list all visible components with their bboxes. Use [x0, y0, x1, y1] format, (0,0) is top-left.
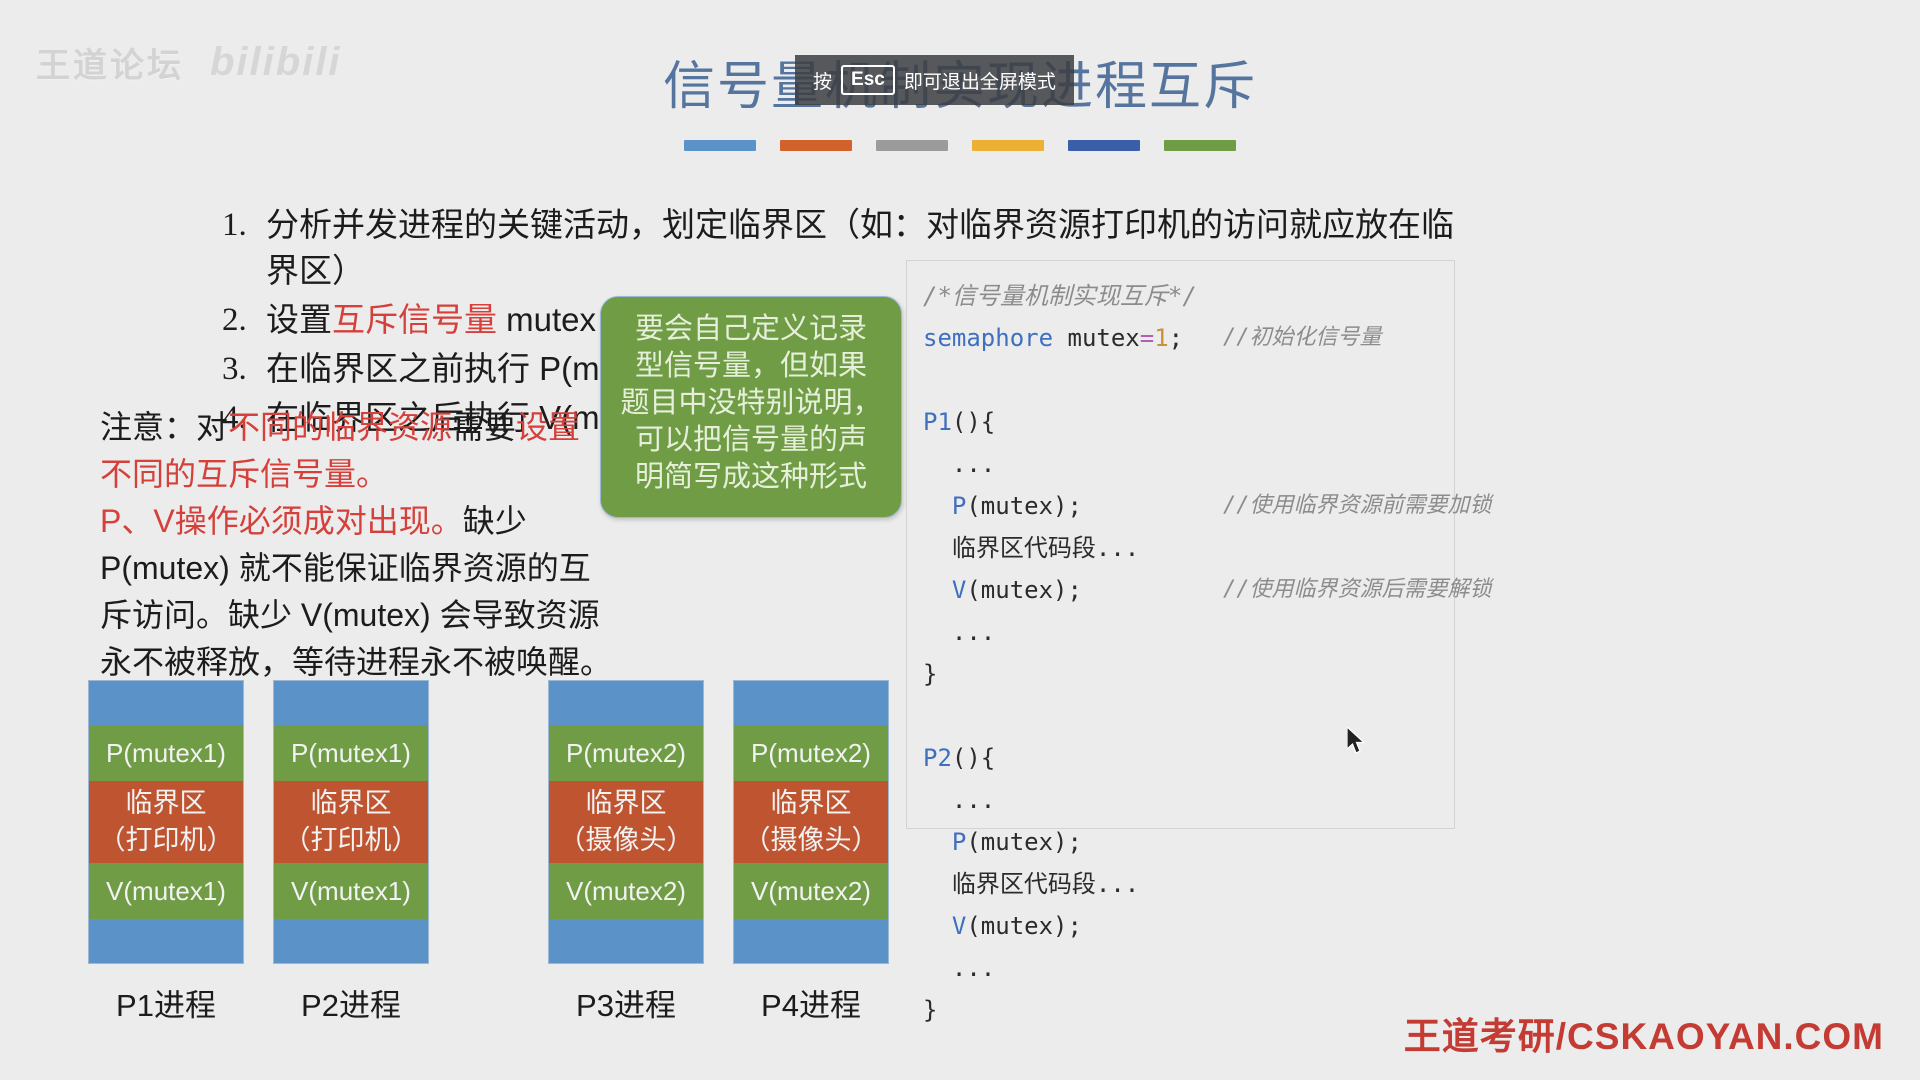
- code-plain: ...: [923, 786, 995, 814]
- segment-exit: [274, 919, 428, 963]
- note-paragraph: 注意：对不同的临界资源需要设置 不同的互斥信号量。 P、V操作必须成对出现。缺少…: [100, 404, 670, 686]
- code-comment: //使用临界资源前需要加锁: [1223, 485, 1492, 527]
- segment-p: P(mutex1): [89, 725, 243, 781]
- process-stack: P(mutex2) 临界区 （摄像头） V(mutex2): [548, 680, 704, 964]
- toast-suffix: 即可退出全屏模式: [904, 67, 1056, 94]
- code-line: ...: [923, 611, 1454, 653]
- segment-exit: [549, 919, 703, 963]
- accent-bars: [684, 140, 1236, 151]
- accent-bar-2: [780, 140, 852, 151]
- segment-critical: 临界区 （打印机）: [89, 781, 243, 863]
- exit-fullscreen-toast: 按 Esc 即可退出全屏模式: [795, 55, 1074, 105]
- segment-critical: 临界区 （打印机）: [274, 781, 428, 863]
- code-plain: 临界区代码段...: [923, 534, 1139, 562]
- esc-key-badge: Esc: [841, 65, 895, 95]
- segment-entry: [89, 681, 243, 725]
- note-line1-red2: 设置: [516, 409, 580, 445]
- segment-p: P(mutex2): [734, 725, 888, 781]
- critical-label: 临界区: [771, 785, 852, 822]
- code-line: semaphore mutex=1;//初始化信号量: [923, 317, 1454, 359]
- code-number: 1: [1154, 324, 1168, 352]
- segment-entry: [734, 681, 888, 725]
- process-label: P3进程: [548, 980, 704, 1025]
- code-plain: (mutex);: [966, 912, 1082, 940]
- critical-resource: （打印机）: [99, 822, 234, 859]
- code-operator: =: [1140, 324, 1154, 352]
- code-line: 临界区代码段...: [923, 527, 1454, 569]
- critical-resource: （摄像头）: [744, 822, 879, 859]
- code-line: V(mutex);: [923, 905, 1454, 947]
- segment-entry: [549, 681, 703, 725]
- code-blank: [923, 359, 1454, 401]
- code-punct: (){: [952, 744, 995, 772]
- segment-critical: 临界区 （摄像头）: [734, 781, 888, 863]
- code-line: ...: [923, 443, 1454, 485]
- code-fn: P: [952, 492, 966, 520]
- segment-exit: [734, 919, 888, 963]
- step-number: 1.: [222, 202, 266, 294]
- process-stack: P(mutex2) 临界区 （摄像头） V(mutex2): [733, 680, 889, 964]
- segment-exit: [89, 919, 243, 963]
- callout-line: 可以把信号量的声: [601, 422, 901, 459]
- segment-v: V(mutex1): [89, 863, 243, 919]
- code-comment: //使用临界资源后需要解锁: [1223, 569, 1492, 611]
- process-block: P(mutex1) 临界区 （打印机） V(mutex1) P1进程: [88, 680, 244, 1025]
- code-line: P2(){: [923, 737, 1454, 779]
- note-line2: 不同的互斥信号量。: [100, 456, 388, 492]
- process-stack: P(mutex1) 临界区 （打印机） V(mutex1): [88, 680, 244, 964]
- callout-line: 要会自己定义记录: [601, 311, 901, 348]
- step-number: 3.: [222, 346, 266, 392]
- code-plain: ...: [923, 954, 995, 982]
- code-line: 临界区代码段...: [923, 863, 1454, 905]
- code-plain: (mutex);: [966, 576, 1082, 604]
- code-fn: P: [952, 828, 966, 856]
- code-line: P(mutex);: [923, 821, 1454, 863]
- code-plain: (mutex);: [966, 492, 1082, 520]
- note-line6: 永不被释放，等待进程永不被唤醒。: [100, 644, 612, 680]
- segment-v: V(mutex2): [734, 863, 888, 919]
- accent-bar-5: [1068, 140, 1140, 151]
- code-line: }: [923, 989, 1454, 1031]
- code-plain: }: [923, 996, 937, 1024]
- callout-line: 题目中没特别说明，: [601, 385, 901, 422]
- code-fn: P1: [923, 408, 952, 436]
- note-line5: 斥访问。缺少 V(mutex) 会导致资源: [100, 597, 600, 633]
- step-text-a: 设置: [266, 301, 332, 338]
- segment-v: V(mutex1): [274, 863, 428, 919]
- segment-v: V(mutex2): [549, 863, 703, 919]
- callout-bubble: 要会自己定义记录 型信号量，但如果 题目中没特别说明， 可以把信号量的声 明简写…: [600, 296, 902, 518]
- accent-bar-1: [684, 140, 756, 151]
- code-plain: ...: [923, 618, 995, 646]
- segment-critical: 临界区 （摄像头）: [549, 781, 703, 863]
- critical-resource: （摄像头）: [559, 822, 694, 859]
- mouse-cursor-icon: [1347, 727, 1369, 757]
- accent-bar-3: [876, 140, 948, 151]
- code-fn: V: [952, 912, 966, 940]
- code-comment: /*信号量机制实现互斥*/: [923, 282, 1197, 310]
- callout-line: 明简写成这种形式: [601, 459, 901, 496]
- critical-label: 临界区: [126, 785, 207, 822]
- process-label: P1进程: [88, 980, 244, 1025]
- code-blank: [923, 695, 1454, 737]
- step-number: 2.: [222, 297, 266, 343]
- code-line: /*信号量机制实现互斥*/: [923, 275, 1454, 317]
- process-block: P(mutex2) 临界区 （摄像头） V(mutex2) P3进程: [548, 680, 704, 1025]
- note-line1-red: 不同的临界资源: [228, 409, 452, 445]
- note-line4: P(mutex) 就不能保证临界资源的互: [100, 550, 591, 586]
- code-line: P1(){: [923, 401, 1454, 443]
- code-line: }: [923, 653, 1454, 695]
- callout-text: 要会自己定义记录 型信号量，但如果 题目中没特别说明， 可以把信号量的声 明简写…: [601, 311, 901, 496]
- code-plain: ...: [923, 450, 995, 478]
- accent-bar-4: [972, 140, 1044, 151]
- critical-label: 临界区: [586, 785, 667, 822]
- critical-label: 临界区: [311, 785, 392, 822]
- code-keyword: semaphore: [923, 324, 1053, 352]
- process-diagram: P(mutex1) 临界区 （打印机） V(mutex1) P1进程 P(mut…: [88, 680, 918, 1025]
- note-line3-red: P、V操作必须成对出现。: [100, 503, 463, 539]
- code-fn: P2: [923, 744, 952, 772]
- brand-footer: 王道考研/CSKAOYAN.COM: [1404, 1006, 1884, 1060]
- process-block: P(mutex1) 临界区 （打印机） V(mutex1) P2进程: [273, 680, 429, 1025]
- code-panel: /*信号量机制实现互斥*/ semaphore mutex=1;//初始化信号量…: [906, 260, 1455, 829]
- note-line1-b: 需要: [452, 409, 516, 445]
- process-block: P(mutex2) 临界区 （摄像头） V(mutex2) P4进程: [733, 680, 889, 1025]
- segment-entry: [274, 681, 428, 725]
- process-label: P2进程: [273, 980, 429, 1025]
- critical-resource: （打印机）: [284, 822, 419, 859]
- process-stack: P(mutex1) 临界区 （打印机） V(mutex1): [273, 680, 429, 964]
- code-punct: ;: [1169, 324, 1183, 352]
- callout-line: 型信号量，但如果: [601, 348, 901, 385]
- toast-prefix: 按: [813, 67, 832, 94]
- code-plain: 临界区代码段...: [923, 870, 1139, 898]
- code-plain: (mutex);: [966, 828, 1082, 856]
- code-fn: V: [952, 576, 966, 604]
- code-comment: //初始化信号量: [1223, 317, 1382, 359]
- code-punct: (){: [952, 408, 995, 436]
- code-line: ...: [923, 779, 1454, 821]
- step-text-highlight: 互斥信号量: [332, 301, 497, 338]
- code-line: ...: [923, 947, 1454, 989]
- segment-p: P(mutex2): [549, 725, 703, 781]
- code-line: V(mutex);//使用临界资源后需要解锁: [923, 569, 1454, 611]
- accent-bar-6: [1164, 140, 1236, 151]
- segment-p: P(mutex1): [274, 725, 428, 781]
- note-line3-black: 缺少: [463, 503, 527, 539]
- code-ident: mutex: [1053, 324, 1140, 352]
- slide-stage: 王道论坛 bilibili 信号量机制实现进程互斥 按 Esc 即可退出全屏模式…: [0, 0, 1920, 1080]
- code-line: P(mutex);//使用临界资源前需要加锁: [923, 485, 1454, 527]
- code-plain: }: [923, 660, 937, 688]
- note-line1-a: 注意：对: [100, 409, 228, 445]
- process-label: P4进程: [733, 980, 889, 1025]
